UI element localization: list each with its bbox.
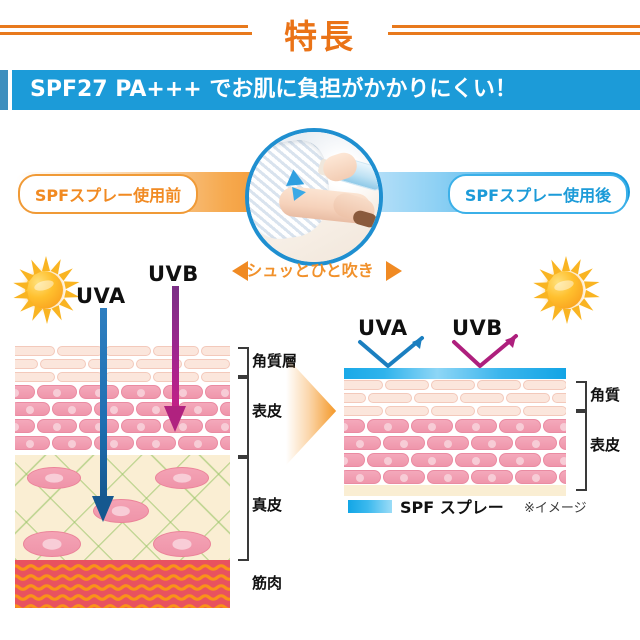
skin-cell-nucleus [194,440,202,448]
spray-caption: シュッとひと吹き [236,258,384,284]
skin-cell-nucleus [560,423,566,431]
skin-cell-row [15,418,230,435]
infographic-canvas: 特長 SPF27 PA+++ でお肌に負担がかかりにくい！ SPFスプレー使用前… [0,0,640,640]
label-epidermis: 表皮 [252,400,282,421]
bracket-epidermis [238,377,249,457]
label-stratum-corneum-right: 角質 [590,384,620,405]
muscle-fiber-wave [15,604,230,608]
sun-ray [584,278,600,289]
skin-cell [201,346,230,356]
dermis-cell-nucleus [173,474,191,483]
skin-cell-row [344,405,566,418]
skin-cell-nucleus [137,423,145,431]
skin-cell-nucleus [110,406,118,414]
skin-cell-row [344,435,566,452]
dermis-cell-nucleus [112,506,130,516]
page-title-row: 特長 [0,8,640,54]
skin-cell-row [344,469,566,486]
uva-label-left: UVA [76,284,126,308]
skin-cell-nucleus [444,474,452,482]
skin-cell-nucleus [110,440,118,448]
legend-label-spf: SPF スプレー [400,494,504,518]
skin-cell-nucleus [68,406,76,414]
dermis-cell [155,467,209,489]
skin-cell-nucleus [356,440,364,448]
muscle-fiber-wave [15,594,230,601]
sun-ray [584,290,600,301]
skin-cell [523,406,566,416]
uvb-arrow-shaft [172,286,179,408]
skin-cell-nucleus [68,440,76,448]
skin-cell [344,406,383,416]
uvb-arrow-head [164,406,186,432]
skin-cell-nucleus [53,389,61,397]
bracket-stratum-corneum [238,347,249,377]
skin-cell [344,380,383,390]
dermis-cell [153,531,211,557]
sun-ray [42,256,50,271]
sun-ray [43,309,51,324]
skin-cell-nucleus [444,440,452,448]
skin-cell-nucleus [26,440,34,448]
dermis-cell-nucleus [172,539,191,550]
skin-cell [506,393,550,403]
skin-cell-nucleus [428,457,436,465]
skin-cell [15,359,38,369]
after-label-pill: SPFスプレー使用後 [448,174,628,214]
skin-cell-nucleus [516,423,524,431]
left-skin-muscle [15,560,230,608]
skin-cell-row [15,345,230,358]
skin-cell-nucleus [221,389,229,397]
skin-cell [559,470,566,484]
skin-cell [57,346,103,356]
spray-caption-arrow-right-icon [386,261,402,281]
skin-cell [105,372,151,382]
skin-cell-nucleus [400,474,408,482]
skin-cell-row [15,371,230,384]
banner-accent-bar [0,70,8,110]
skin-cell-nucleus [488,440,496,448]
right-skin-epidermis [344,379,566,489]
sun-ray [562,256,570,271]
muscle-fiber-wave [15,564,230,571]
spray-photo [245,128,383,266]
before-label-pill: SPFスプレー使用前 [18,174,198,214]
skin-cell [523,380,566,390]
skin-cell [184,359,230,369]
label-epidermis-right: 表皮 [590,434,620,455]
skin-cell-row [344,392,566,405]
headline-banner-text: SPF27 PA+++ でお肌に負担がかかりにくい！ [30,70,517,110]
skin-cell [477,406,521,416]
skin-cell-nucleus [53,423,61,431]
sun-icon-right [528,254,600,326]
skin-cell-nucleus [221,423,229,431]
skin-cell-nucleus [356,474,364,482]
skin-cell-row [15,384,230,401]
skin-cell-nucleus [400,440,408,448]
skin-cell [552,393,566,403]
bracket-epidermis-right [576,411,587,491]
skin-cell-nucleus [560,457,566,465]
skin-cell-nucleus [472,457,480,465]
sun-icon-left [8,254,80,326]
bracket-dermis [238,457,249,561]
muscle-fiber-wave [15,574,230,581]
skin-cell-nucleus [516,457,524,465]
dermis-cell [23,531,81,557]
skin-cell-nucleus [428,423,436,431]
legend-swatch-spf [348,500,392,513]
skin-cell [431,380,475,390]
skin-cell [220,402,230,416]
muscle-fiber-wave [15,584,230,591]
uv-reflection-arrows [330,330,590,380]
skin-cell-row [344,379,566,392]
skin-cell [15,372,55,382]
uva-arrow-shaft [100,308,107,498]
skin-cell [414,393,458,403]
skin-cell [344,393,366,403]
dermis-cell-nucleus [45,474,63,483]
uva-reflection-arrow [360,338,422,366]
skin-cell-nucleus [137,389,145,397]
skin-cell-nucleus [152,440,160,448]
skin-cell [105,346,151,356]
skin-cell-nucleus [179,389,187,397]
skin-cell [57,372,103,382]
skin-cell-nucleus [384,423,392,431]
skin-cell [431,406,475,416]
skin-cell [460,393,504,403]
uvb-reflection-arrow [454,336,516,366]
skin-cell-row [344,418,566,435]
label-muscle: 筋肉 [252,572,282,593]
left-skin-dermis [15,455,230,560]
skin-cell-row [15,435,230,452]
label-dermis: 真皮 [252,494,282,515]
skin-cell-nucleus [384,457,392,465]
sun-ray [563,309,571,324]
photo-spray-burst-2 [292,185,307,201]
skin-cell-nucleus [152,406,160,414]
skin-cell [88,359,134,369]
bracket-stratum-corneum-right [576,381,587,411]
skin-cell [15,346,55,356]
uvb-label-left: UVB [148,262,199,286]
photo-background [249,132,379,262]
skin-cell-row [15,358,230,371]
skin-cell-nucleus [26,406,34,414]
skin-cell-nucleus [194,406,202,414]
skin-cell-row [15,401,230,418]
image-disclaimer-note: ※イメージ [524,497,587,516]
dermis-cell-nucleus [42,539,61,550]
skin-cell [368,393,412,403]
skin-cell-nucleus [532,474,540,482]
left-skin-epidermis [15,345,230,455]
skin-cell-nucleus [532,440,540,448]
skin-cell [559,436,566,450]
skin-cell [477,380,521,390]
skin-cell-nucleus [472,423,480,431]
dermis-cell [27,467,81,489]
page-title: 特長 [0,10,640,58]
skin-cell-nucleus [488,474,496,482]
skin-cell [40,359,86,369]
skin-cell [201,372,230,382]
skin-cell [385,406,429,416]
skin-cell-row [344,452,566,469]
skin-cell [385,380,429,390]
skin-cell [220,436,230,450]
uva-arrow-head [92,496,114,522]
